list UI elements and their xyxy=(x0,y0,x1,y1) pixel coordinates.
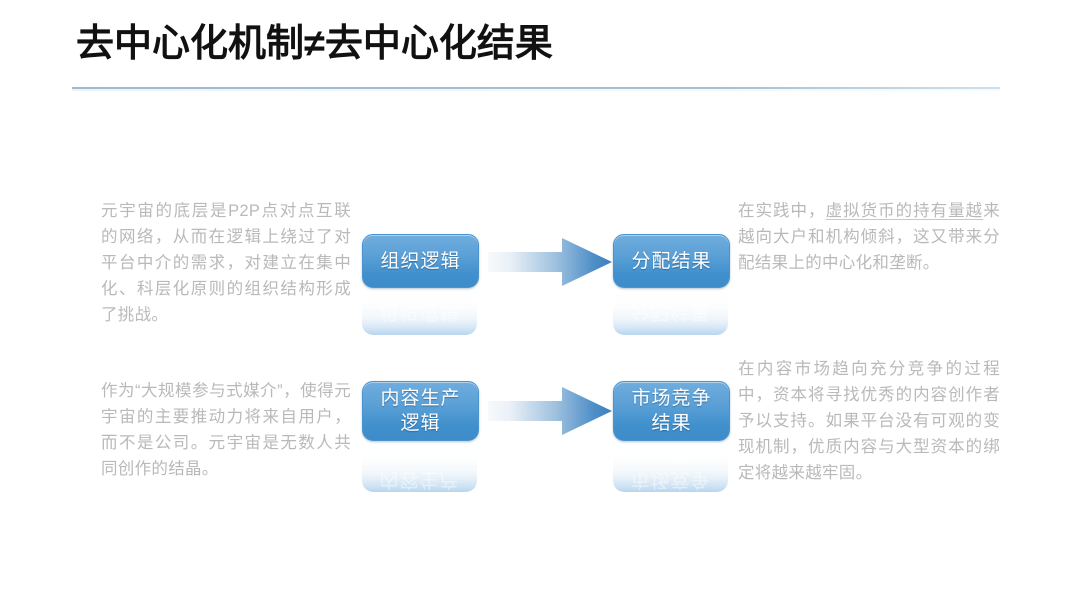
right-arrow-icon xyxy=(488,234,612,290)
right-paragraph-1: 在实践中，虚拟货币的持有量越来越向大户和机构倾斜，这又带来分配结果上的中心化和垄… xyxy=(738,198,1000,276)
node-reflection-label: 分配结果 xyxy=(630,300,710,325)
page-title: 去中心化机制≠去中心化结果 xyxy=(76,22,553,68)
right-paragraph-1-lead: 在实践中， xyxy=(738,202,826,220)
node-organization-logic[interactable]: 组织逻辑 xyxy=(362,234,479,288)
node-label: 市场竞争 结果 xyxy=(631,386,711,436)
node-label: 分配结果 xyxy=(631,249,711,274)
node-content-production-logic[interactable]: 内容生产 逻辑 xyxy=(362,381,479,441)
left-paragraph-1: 元宇宙的底层是P2P点对点互联的网络，从而在逻辑上绕过了对平台中介的需求，对建立… xyxy=(101,198,351,328)
node-reflection-market-competition-result: 市场竞争 结果 xyxy=(613,442,728,492)
node-reflection-distribution-result: 分配结果 xyxy=(613,289,728,335)
node-market-competition-result[interactable]: 市场竞争 结果 xyxy=(613,381,730,441)
node-reflection-label: 内容生产 逻辑 xyxy=(379,442,459,492)
node-reflection-content-production-logic: 内容生产 逻辑 xyxy=(362,442,477,492)
node-label: 内容生产 逻辑 xyxy=(380,386,460,436)
title-divider-shadow xyxy=(72,89,1000,91)
node-reflection-organization-logic: 组织逻辑 xyxy=(362,289,477,335)
node-label: 组织逻辑 xyxy=(380,249,460,274)
node-reflection-label: 市场竞争 结果 xyxy=(630,442,710,492)
right-paragraph-2: 在内容市场趋向充分竞争的过程中，资本将寻找优秀的内容创作者予以支持。如果平台没有… xyxy=(738,356,1000,486)
left-paragraph-2: 作为“大规模参与式媒介”，使得元宇宙的主要推动力将来自用户，而不是公司。元宇宙是… xyxy=(101,378,351,482)
slide-canvas: 去中心化机制≠去中心化结果 元宇宙的底层是P2P点对点互联的网络，从而在逻辑上绕… xyxy=(0,0,1080,591)
right-paragraph-1-emphasis: 虚拟货币的持有量越 xyxy=(826,202,984,220)
right-arrow-icon xyxy=(488,383,612,439)
node-distribution-result[interactable]: 分配结果 xyxy=(613,234,730,288)
node-reflection-label: 组织逻辑 xyxy=(379,300,459,325)
